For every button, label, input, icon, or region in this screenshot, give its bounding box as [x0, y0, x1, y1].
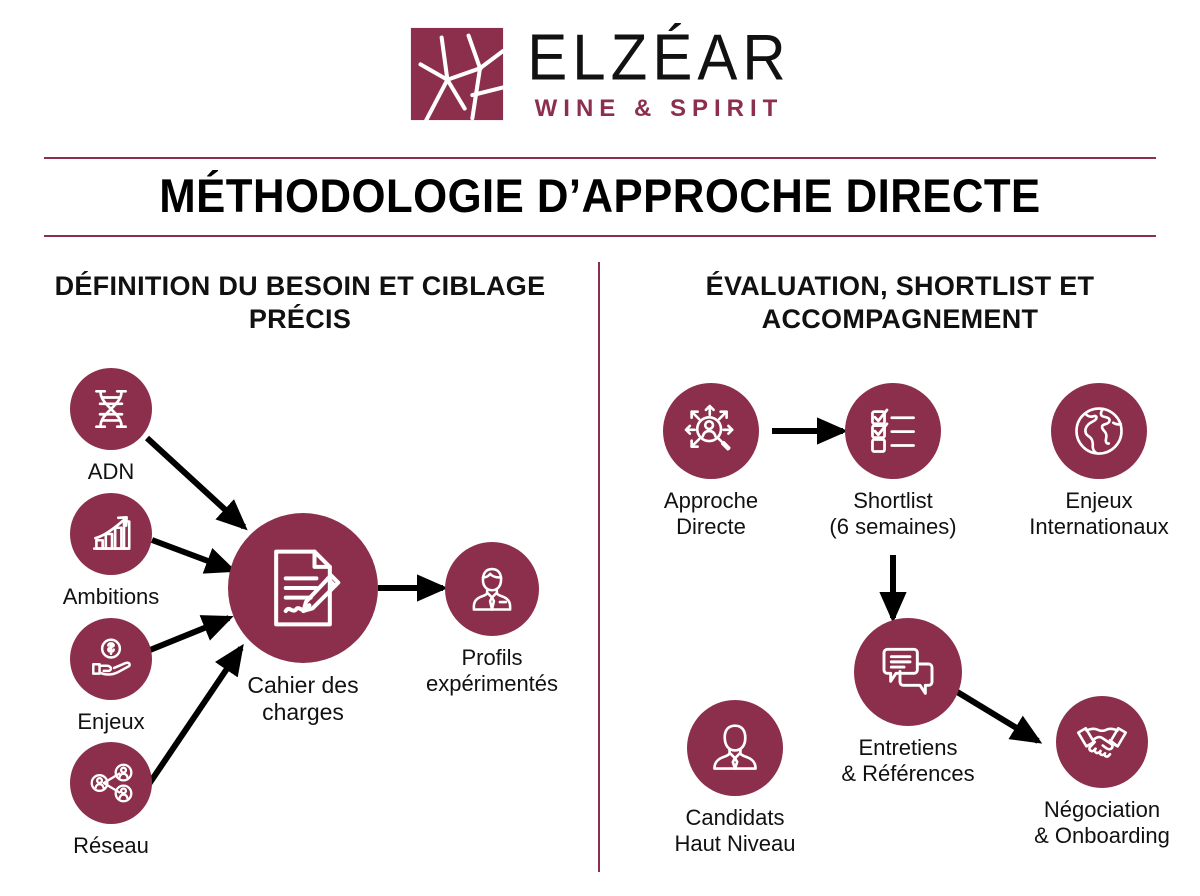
node-negociation-onboarding[interactable]: Négociation & Onboarding [1012, 696, 1192, 849]
node-enjeux-internationaux[interactable]: Enjeux Internationaux [1008, 383, 1190, 540]
node-disc [663, 383, 759, 479]
checklist-icon [864, 402, 922, 460]
node-label: Entretiens & Références [841, 735, 974, 787]
node-adn[interactable]: ADN [63, 368, 159, 485]
handshake-icon [1072, 712, 1132, 772]
node-enjeux[interactable]: Enjeux [63, 618, 159, 735]
brand-name: ELZÉAR [527, 25, 790, 91]
node-label: Candidats Haut Niveau [674, 805, 795, 857]
node-disc [70, 368, 152, 450]
node-label: Profils expérimentés [426, 645, 558, 697]
brand-wordmark: ELZÉAR WINE & SPIRIT [527, 27, 790, 120]
vine-square-logo-icon [409, 26, 505, 122]
node-profils-experimentes[interactable]: Profils expérimentés [442, 542, 542, 697]
node-label: Shortlist (6 semaines) [829, 488, 956, 540]
column-divider [598, 262, 600, 872]
document-pencil-icon [257, 542, 349, 634]
node-disc [1056, 696, 1148, 788]
node-disc [70, 493, 152, 575]
node-entretiens-references[interactable]: Entretiens & Références [828, 618, 988, 787]
title-rule-bottom [44, 235, 1156, 237]
search-person-arrows-icon [681, 401, 741, 461]
infographic-page: ELZÉAR WINE & SPIRIT MÉTHODOLOGIE D’APPR… [0, 0, 1200, 896]
node-label: Ambitions [63, 584, 160, 610]
network-people-icon [86, 758, 136, 808]
node-cahier-des-charges[interactable]: Cahier des charges [228, 513, 378, 726]
growth-chart-icon [86, 509, 136, 559]
node-disc [1051, 383, 1147, 479]
node-label: Approche Directe [664, 488, 758, 540]
node-label: Réseau [73, 833, 149, 859]
column-heading-left: DÉFINITION DU BESOIN ET CIBLAGE PRÉCIS [30, 270, 570, 336]
node-label: Négociation & Onboarding [1034, 797, 1170, 849]
node-disc [854, 618, 962, 726]
node-candidats-haut-niveau[interactable]: Candidats Haut Niveau [655, 700, 815, 857]
hand-coin-icon [86, 634, 136, 684]
node-ambitions[interactable]: Ambitions [63, 493, 159, 610]
node-disc [687, 700, 783, 796]
node-approche-directe[interactable]: Approche Directe [655, 383, 767, 540]
node-shortlist[interactable]: Shortlist (6 semaines) [822, 383, 964, 540]
businessperson-icon [463, 560, 521, 618]
node-disc [845, 383, 941, 479]
node-disc [70, 742, 152, 824]
node-disc [228, 513, 378, 663]
node-label: Enjeux Internationaux [1029, 488, 1168, 540]
node-label: Cahier des charges [247, 672, 358, 726]
node-disc [70, 618, 152, 700]
title-rule-top [44, 157, 1156, 159]
person-tie-icon [706, 719, 764, 777]
arrow-reseau-to-cahier [145, 648, 241, 790]
brand-header: ELZÉAR WINE & SPIRIT [0, 26, 1200, 122]
node-disc [445, 542, 539, 636]
page-title: MÉTHODOLOGIE D’APPROCHE DIRECTE [42, 166, 1158, 226]
node-reseau[interactable]: Réseau [63, 742, 159, 859]
brand-tagline: WINE & SPIRIT [535, 97, 784, 121]
arrow-enjeux-to-cahier [150, 618, 229, 650]
arrow-ambitions-to-cahier [152, 540, 232, 570]
dna-icon [86, 384, 136, 434]
speech-bubbles-icon [876, 640, 940, 704]
column-heading-right: ÉVALUATION, SHORTLIST ET ACCOMPAGNEMENT [630, 270, 1170, 336]
globe-icon [1069, 401, 1129, 461]
node-label: Enjeux [77, 709, 144, 735]
node-label: ADN [88, 459, 134, 485]
